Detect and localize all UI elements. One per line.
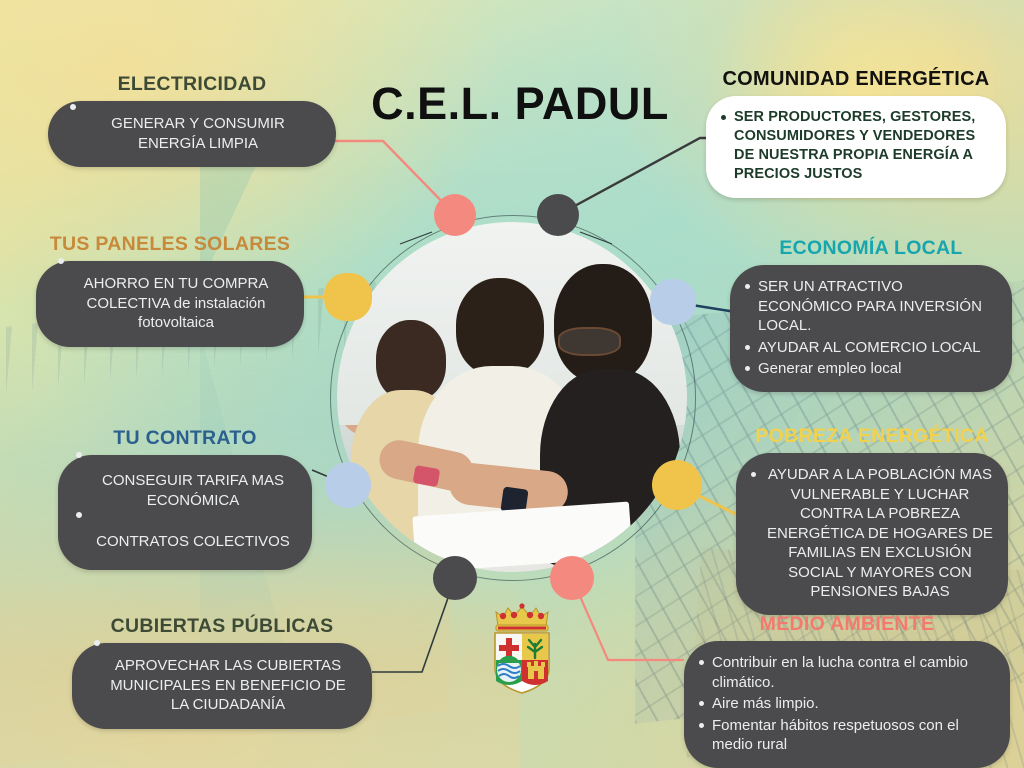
glasses-icon [558,327,622,356]
card-tu-contrato: CONSEGUIR TARIFA MAS ECONÓMICA CONTRATOS… [58,455,312,570]
list-item: AYUDAR AL COMERCIO LOCAL [758,338,1000,358]
list-item: Generar empleo local [758,359,1000,379]
bullet-marker [94,640,100,646]
list-medio-ambiente: Contribuir en la lucha contra el cambio … [694,653,998,755]
infographic-canvas: C.E.L. PADUL ELECTRICIDAD GENERAR Y CONS… [0,0,1024,768]
node-cubiertas [433,556,477,600]
page-title: C.E.L. PADUL [340,78,700,130]
heading-economia-local: ECONOMÍA LOCAL [730,238,1012,259]
section-pobreza-energetica: POBREZA ENERGÉTICA AYUDAR A LA POBLACIÓN… [736,426,1008,615]
node-paneles [324,273,372,321]
node-comunidad [537,194,579,236]
section-tu-contrato: TU CONTRATO CONSEGUIR TARIFA MAS ECONÓMI… [58,428,312,570]
card-electricidad: GENERAR Y CONSUMIR ENERGÍA LIMPIA [48,101,336,167]
section-economia-local: ECONOMÍA LOCAL SER UN ATRACTIVO ECONÓMIC… [730,238,1012,392]
heading-comunidad-energetica: COMUNIDAD ENERGÉTICA [706,68,1006,90]
card-economia-local: SER UN ATRACTIVO ECONÓMICO PARA INVERSIÓ… [730,265,1012,392]
section-electricidad: ELECTRICIDAD GENERAR Y CONSUMIR ENERGÍA … [48,74,336,167]
list-item: Contribuir en la lucha contra el cambio … [712,653,998,692]
person-left-hair [376,320,446,401]
list-tu-contrato: CONSEGUIR TARIFA MAS ECONÓMICA CONTRATOS… [72,471,298,552]
list-electricidad: GENERAR Y CONSUMIR ENERGÍA LIMPIA [62,114,318,153]
node-medio [550,556,594,600]
list-item: SER PRODUCTORES, GESTORES, CONSUMIDORES … [734,108,992,185]
bullet-marker [76,512,82,518]
heading-paneles-solares: TUS PANELES SOLARES [36,234,304,255]
person-center-hair [456,278,544,376]
central-photo [337,222,687,572]
section-paneles-solares: TUS PANELES SOLARES AHORRO EN TU COMPRA … [36,234,304,347]
node-pobreza [652,460,702,510]
heading-medio-ambiente: MEDIO AMBIENTE [684,614,1010,635]
card-pobreza-energetica: AYUDAR A LA POBLACIÓN MAS VULNERABLE Y L… [736,453,1008,615]
list-item: CONTRATOS COLECTIVOS [88,532,298,552]
node-electricidad [434,194,476,236]
person-right-hair [554,264,652,383]
list-item: GENERAR Y CONSUMIR ENERGÍA LIMPIA [78,114,318,153]
list-comunidad-energetica: SER PRODUCTORES, GESTORES, CONSUMIDORES … [716,108,992,185]
photo-image [337,222,687,572]
list-item: CONSEGUIR TARIFA MAS ECONÓMICA [88,471,298,510]
list-item: Fomentar hábitos respetuosos con el medi… [712,716,998,755]
list-economia-local: SER UN ATRACTIVO ECONÓMICO PARA INVERSIÓ… [740,277,1000,379]
heading-cubiertas-publicas: CUBIERTAS PÚBLICAS [72,616,372,637]
heading-tu-contrato: TU CONTRATO [58,428,312,449]
card-paneles-solares: AHORRO EN TU COMPRA COLECTIVA de instala… [36,261,304,347]
bullet-marker [70,104,76,110]
node-economia [650,279,696,325]
section-medio-ambiente: MEDIO AMBIENTE Contribuir en la lucha co… [684,614,1010,768]
list-item: APROVECHAR LAS CUBIERTAS MUNICIPALES EN … [102,656,354,715]
bullet-marker [76,452,82,458]
card-comunidad-energetica: SER PRODUCTORES, GESTORES, CONSUMIDORES … [706,96,1006,198]
node-contrato [325,462,371,508]
heading-electricidad: ELECTRICIDAD [48,74,336,95]
list-item: SER UN ATRACTIVO ECONÓMICO PARA INVERSIÓ… [758,277,1000,336]
bullet-marker [58,258,64,264]
list-paneles-solares: AHORRO EN TU COMPRA COLECTIVA de instala… [50,274,286,333]
card-cubiertas-publicas: APROVECHAR LAS CUBIERTAS MUNICIPALES EN … [72,643,372,729]
list-item: AHORRO EN TU COMPRA COLECTIVA de instala… [66,274,286,333]
heading-pobreza-energetica: POBREZA ENERGÉTICA [736,426,1008,447]
list-item: AYUDAR A LA POBLACIÓN MAS VULNERABLE Y L… [764,465,996,602]
section-comunidad-energetica: COMUNIDAD ENERGÉTICA SER PRODUCTORES, GE… [706,68,1006,198]
list-cubiertas-publicas: APROVECHAR LAS CUBIERTAS MUNICIPALES EN … [86,656,354,715]
card-medio-ambiente: Contribuir en la lucha contra el cambio … [684,641,1010,768]
section-cubiertas-publicas: CUBIERTAS PÚBLICAS APROVECHAR LAS CUBIER… [72,616,372,729]
list-item: Aire más limpio. [712,694,998,714]
coat-of-arms-padul [482,600,562,696]
list-pobreza-energetica: AYUDAR A LA POBLACIÓN MAS VULNERABLE Y L… [746,465,996,602]
